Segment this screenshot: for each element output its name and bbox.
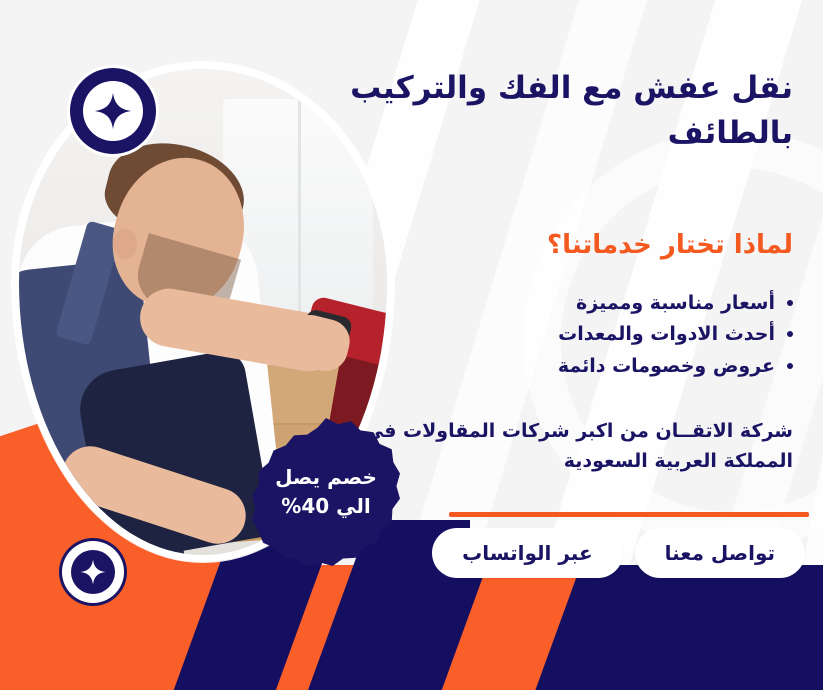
- sparkle-star-icon: [80, 559, 106, 585]
- list-item: عروض وخصومات دائمة: [323, 351, 793, 382]
- company-description: شركة الاتقــان من اكبر شركات المقاولات ف…: [323, 416, 793, 477]
- brand-logo-bottom-inner: [71, 550, 115, 594]
- orange-divider: [449, 512, 809, 517]
- worker-ear: [113, 229, 137, 259]
- whatsapp-button[interactable]: عبر الواتساب: [432, 528, 622, 578]
- list-item: أحدث الادوات والمعدات: [323, 319, 793, 350]
- brand-logo-bottom[interactable]: [62, 541, 124, 603]
- section-subtitle: لماذا تختار خدماتنا؟: [323, 230, 793, 260]
- sparkle-star-icon: [94, 92, 132, 130]
- list-item: أسعار مناسبة ومميزة: [323, 288, 793, 319]
- page-title: نقل عفش مع الفك والتركيب بالطائف: [323, 66, 793, 156]
- feature-list: أسعار مناسبة ومميزة أحدث الادوات والمعدا…: [323, 288, 793, 382]
- cta-button-group: تواصل معنا عبر الواتساب: [432, 528, 805, 578]
- promo-banner: خصم يصل الي 40% نقل عفش مع الفك والتركيب…: [0, 0, 823, 690]
- brand-logo-top-inner: [83, 81, 143, 141]
- contact-us-button[interactable]: تواصل معنا: [635, 528, 805, 578]
- discount-badge-line2: الي 40%: [275, 492, 377, 521]
- content-column: نقل عفش مع الفك والتركيب بالطائف لماذا ت…: [323, 66, 793, 477]
- brand-logo-top[interactable]: [70, 68, 156, 154]
